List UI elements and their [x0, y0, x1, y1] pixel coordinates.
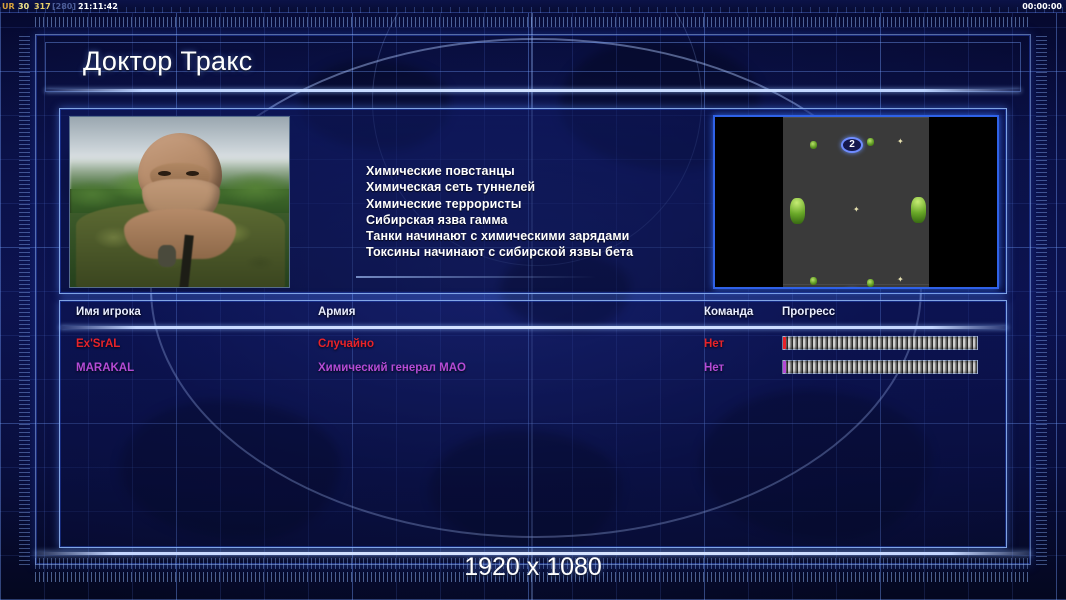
status-value-b: 317 — [34, 0, 51, 13]
player-name: Ex'SrAL — [76, 332, 120, 356]
progress-bar-tip — [783, 361, 786, 373]
description-line: Танки начинают с химическими зарядами — [366, 228, 746, 244]
description-line: Химическая сеть туннелей — [366, 179, 746, 195]
table-row[interactable]: Ex'SrAL Случайно Нет — [60, 332, 1008, 356]
map-tree — [867, 279, 874, 287]
status-value-c: [280] — [52, 0, 76, 13]
progress-bar-tip — [783, 337, 786, 349]
portrait-scarf — [124, 209, 236, 259]
player-team: Нет — [704, 332, 724, 356]
status-label: UR — [2, 0, 15, 13]
map-prop-star: ✦ — [897, 139, 903, 145]
faction-description: Химические повстанцы Химическая сеть тун… — [304, 116, 748, 288]
map-tree — [867, 138, 874, 146]
status-clock: 21:11:42 — [78, 0, 118, 13]
status-bar-ticks — [0, 7, 1066, 13]
player-list: Имя игрока Армия Команда Прогресс Ex'SrA… — [59, 300, 1007, 548]
description-divider — [356, 276, 596, 278]
ruler-top — [35, 17, 1031, 27]
map-tree-cluster — [790, 198, 805, 224]
player-team: Нет — [704, 356, 724, 380]
page-title: Доктор Тракс — [83, 46, 253, 77]
map-terrain-edge — [783, 284, 929, 285]
title-underline — [45, 89, 1021, 92]
portrait-eye-left — [158, 171, 171, 176]
loading-screen-panel: Доктор Тракс Химические повстанцы Химиче… — [35, 34, 1031, 565]
table-row[interactable]: MARAKAL Химический генерал MAO Нет — [60, 356, 1008, 380]
map-prop-star: ✦ — [897, 277, 903, 283]
resolution-label: 1920 x 1080 — [0, 553, 1066, 582]
description-line: Химические повстанцы — [366, 163, 746, 179]
portrait-eye-right — [186, 171, 199, 176]
player-list-header-divider — [60, 326, 1008, 329]
column-header-team: Команда — [704, 306, 753, 318]
map-tree — [810, 141, 817, 149]
game-timer: 00:00:00 — [1022, 0, 1062, 13]
player-list-header: Имя игрока Армия Команда Прогресс — [60, 306, 1008, 326]
map-preview: ✦ ✦ ✦ 2 1 — [713, 115, 999, 289]
map-tree — [810, 277, 817, 285]
player-army: Случайно — [318, 332, 374, 356]
ruler-right — [1036, 34, 1047, 565]
column-header-army: Армия — [318, 306, 355, 318]
map-prop-star: ✦ — [853, 207, 859, 213]
description-line: Сибирская язва гамма — [366, 212, 746, 228]
status-value-a: 30 — [18, 0, 29, 13]
map-tree-cluster — [911, 197, 926, 223]
column-header-name: Имя игрока — [76, 306, 141, 318]
map-start-position-2[interactable]: 2 — [841, 137, 863, 153]
description-line: Токсины начинают с сибирской язвы бета — [366, 244, 746, 260]
map-terrain-edge — [783, 117, 929, 118]
column-header-progress: Прогресс — [782, 306, 835, 318]
briefing-card: Химические повстанцы Химическая сеть тун… — [59, 108, 1007, 294]
general-portrait — [69, 116, 290, 288]
portrait-canteen — [158, 245, 176, 267]
title-bar: Доктор Тракс — [45, 42, 1021, 94]
description-lines: Химические повстанцы Химическая сеть тун… — [366, 163, 746, 261]
ruler-left — [19, 34, 30, 565]
player-progress-bar — [782, 336, 978, 350]
player-progress-bar — [782, 360, 978, 374]
status-bar: UR 30 317 [280] 21:11:42 00:00:00 — [0, 0, 1066, 13]
description-line: Химические террористы — [366, 196, 746, 212]
player-name: MARAKAL — [76, 356, 134, 380]
player-army: Химический генерал MAO — [318, 356, 466, 380]
